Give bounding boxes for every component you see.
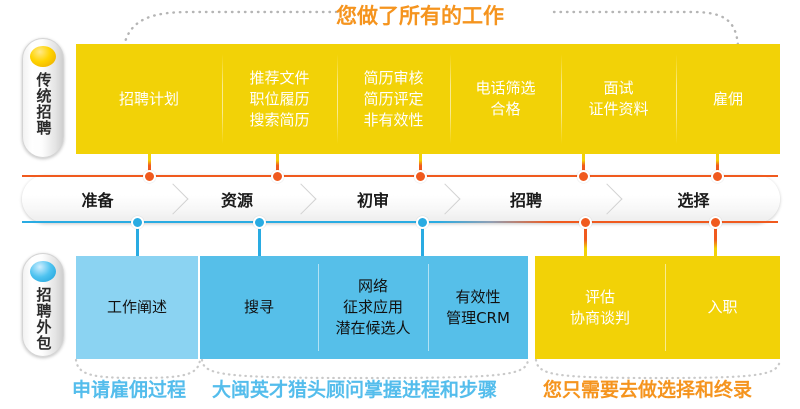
dotted-arc-left-icon: [120, 4, 340, 48]
timeline-node-bottom-5: [709, 216, 722, 229]
badge-outsourcing-label: 招聘外包: [35, 287, 52, 351]
timeline-node-top-3: [414, 170, 427, 183]
connector-stem-down-2: [258, 226, 261, 256]
yellow-dot-icon: [30, 46, 56, 67]
connector-stem-down-4: [584, 226, 587, 256]
timeline-node-top-1: [143, 170, 156, 183]
caption-application-process: 申请雇佣过程: [72, 378, 186, 402]
cell-line: 简历审核: [363, 68, 423, 89]
traditional-cell-3: 简历审核 简历评定 非有效性: [337, 44, 450, 154]
cell-line: 非有效性: [363, 110, 423, 131]
cell-line: 征求应用: [343, 297, 403, 318]
badge-recruitment-outsourcing: 招聘外包: [22, 253, 64, 357]
connector-stem-down-5: [714, 226, 717, 256]
connector-stem-down-3: [421, 226, 424, 256]
job-description-box: 工作阐述: [76, 256, 198, 359]
cell-line: 潜在候选人: [335, 318, 410, 339]
cell-line: 工作阐述: [107, 297, 167, 318]
outsourcing-cell-evaluation: 评估 协商谈判: [535, 256, 665, 359]
timeline-stage-label: 选择: [677, 187, 709, 211]
dotted-arc-bottom-1-icon: [74, 358, 202, 380]
timeline-node-bottom-1: [131, 216, 144, 229]
dotted-arc-bottom-2-icon: [200, 358, 530, 380]
search-sourcing-box: 搜寻 网络 征求应用 潜在候选人 有效性 管理CRM: [200, 256, 528, 359]
cell-line: 网络: [358, 276, 388, 297]
offer-onboarding-box: 评估 协商谈判 入职: [535, 256, 780, 359]
cell-line: 招聘计划: [119, 89, 179, 110]
badge-traditional-label: 传统招聘: [35, 72, 52, 136]
traditional-cell-4: 电话筛选 合格: [450, 44, 561, 154]
dotted-arc-right-icon: [552, 4, 742, 48]
cell-line: 搜索简历: [249, 110, 309, 131]
timeline-node-top-4: [577, 170, 590, 183]
timeline-stage-label: 招聘: [510, 187, 542, 211]
traditional-cell-6: 雇佣: [676, 44, 780, 154]
cell-line: 面试: [603, 78, 633, 99]
cell-line: 入职: [707, 297, 737, 318]
badge-traditional-recruiting: 传统招聘: [22, 38, 64, 158]
cell-line: 合格: [490, 99, 520, 120]
timeline-stage-label: 初审: [357, 187, 389, 211]
dotted-arc-bottom-3-icon: [534, 358, 782, 380]
cell-line: 电话筛选: [475, 78, 535, 99]
timeline-node-top-2: [271, 170, 284, 183]
caption-you-only-select: 您只需要去做选择和终录: [543, 378, 752, 402]
cell-line: 推荐文件: [249, 68, 309, 89]
timeline-node-bottom-2: [253, 216, 266, 229]
timeline-node-bottom-3: [416, 216, 429, 229]
timeline-stage-label: 准备: [81, 187, 113, 211]
outsourcing-cell-job-description: 工作阐述: [76, 256, 198, 359]
outsourcing-cell-onboarding: 入职: [665, 256, 780, 359]
cell-line: 有效性: [455, 287, 500, 308]
cell-line: 雇佣: [713, 89, 743, 110]
timeline-stage-label: 资源: [221, 187, 253, 211]
cell-line: 管理CRM: [446, 308, 510, 329]
cell-line: 搜寻: [244, 297, 274, 318]
connector-stem-down-1: [136, 226, 139, 256]
cell-line: 职位履历: [249, 89, 309, 110]
outsourcing-cell-validity: 有效性 管理CRM: [428, 256, 528, 359]
cell-line: 协商谈判: [570, 308, 630, 329]
blue-dot-icon: [30, 261, 56, 282]
outsourcing-cell-network: 网络 征求应用 潜在候选人: [318, 256, 428, 359]
traditional-cell-5: 面试 证件资料: [561, 44, 676, 154]
timeline-stage-resource[interactable]: 资源: [173, 175, 301, 223]
traditional-cell-2: 推荐文件 职位履历 搜索简历: [222, 44, 337, 154]
timeline-node-bottom-4: [579, 216, 592, 229]
traditional-cell-1: 招聘计划: [76, 44, 222, 154]
page-title: 您做了所有的工作: [336, 3, 504, 29]
timeline-stage-select[interactable]: 选择: [607, 175, 780, 223]
timeline-node-top-5: [711, 170, 724, 183]
traditional-recruiting-row: 招聘计划 推荐文件 职位履历 搜索简历 简历审核 简历评定 非有效性 电话筛选 …: [76, 44, 780, 154]
cell-line: 评估: [585, 287, 615, 308]
timeline-top-rule: [22, 175, 778, 177]
recruitment-process-infographic: 您做了所有的工作 传统招聘 招聘计划 推荐文件 职位履历 搜索简历 简历审核 简…: [0, 0, 800, 409]
caption-consultant-manages: 大闽英才猎头顾问掌握进程和步骤: [212, 378, 497, 402]
cell-line: 证件资料: [588, 99, 648, 120]
cell-line: 简历评定: [363, 89, 423, 110]
outsourcing-cell-search: 搜寻: [200, 256, 318, 359]
